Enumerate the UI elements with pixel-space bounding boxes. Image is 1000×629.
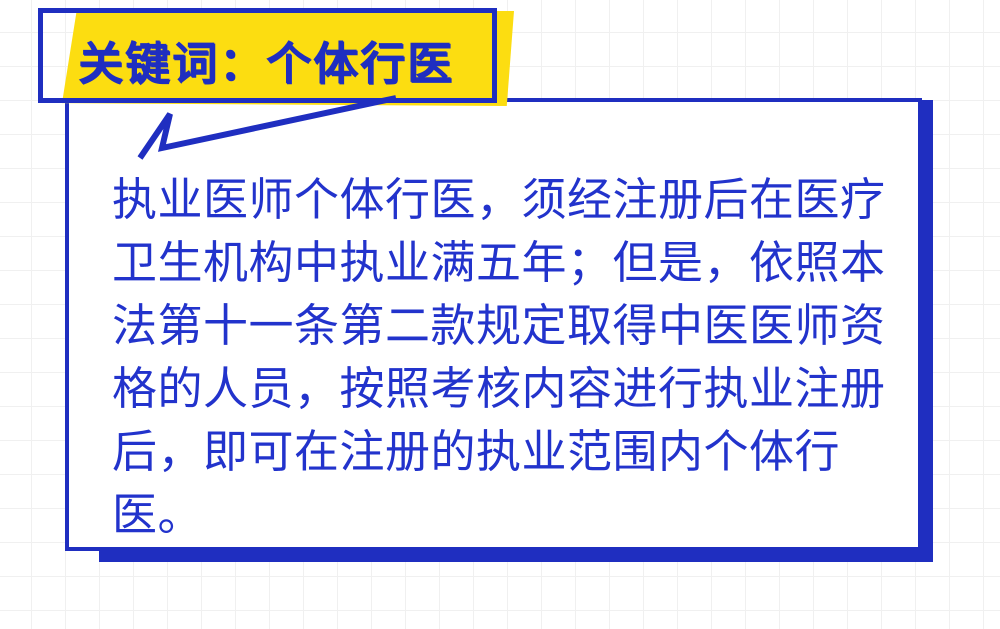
poster-canvas: 执业医师个体行医，须经注册后在医疗卫生机构中执业满五年；但是，依照本法第十一条第…	[0, 0, 1000, 629]
banner-title: 关键词：个体行医	[78, 26, 498, 92]
card-body-text: 执业医师个体行医，须经注册后在医疗卫生机构中执业满五年；但是，依照本法第十一条第…	[112, 168, 902, 546]
speech-bubble-tail-icon	[100, 96, 400, 166]
